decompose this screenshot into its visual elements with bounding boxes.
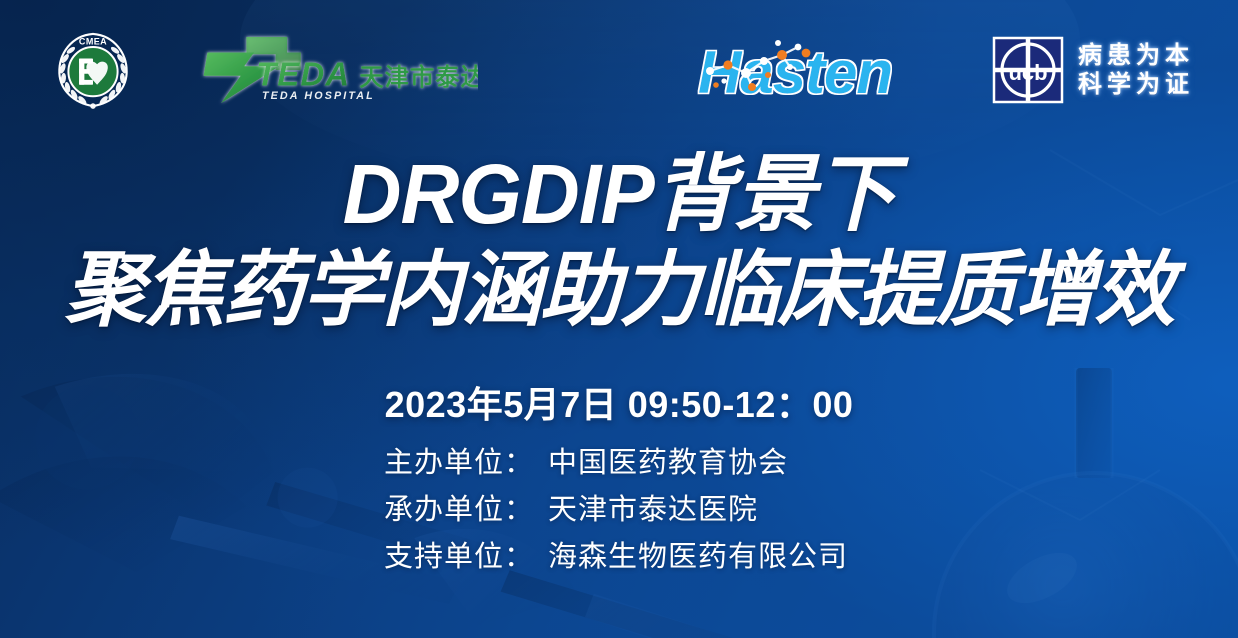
teda-latin-wordmark: TEDA	[256, 57, 350, 94]
event-date-time: 2023年5月7日 09:50-12：00	[0, 376, 1238, 428]
cmea-acronym-text: CMEA	[79, 37, 107, 47]
hasten-wordmark-icon: Hasten	[694, 31, 944, 109]
headline-line-2: 聚焦药学内涵助力临床提质增效	[6, 250, 1232, 332]
organiser-row: 支持单位： 海森生物医药有限公司	[384, 534, 854, 581]
organiser-row: 主办单位： 中国医药教育协会	[384, 440, 854, 487]
cmea-logo: CMEA	[52, 29, 134, 111]
teda-chinese-name: 天津市泰达医院	[359, 64, 478, 92]
conference-poster: CMEA	[0, 0, 1238, 638]
ucb-slogan-line-1: 病患为本	[1078, 43, 1194, 68]
organiser-value: 海森生物医药有限公司	[548, 534, 854, 581]
cmea-emblem-icon: CMEA	[52, 29, 134, 111]
organiser-block: 主办单位： 中国医药教育协会 承办单位： 天津市泰达医院 支持单位： 海森生物医…	[0, 440, 1238, 581]
ucb-slogan-line-2: 科学为证	[1078, 72, 1194, 97]
hasten-logo: Hasten	[694, 31, 944, 109]
organiser-label: 主办单位：	[384, 440, 534, 487]
teda-hospital-emblem-icon: TEDA TEDA HOSPITAL 天津市泰达医院	[186, 33, 478, 107]
teda-hospital-logo: TEDA TEDA HOSPITAL 天津市泰达医院	[186, 33, 478, 107]
headline-line-1: DRGDIP背景下	[19, 152, 1220, 236]
ucb-wordmark-text: ucb	[1008, 60, 1047, 85]
ucb-emblem-icon: ucb	[992, 36, 1064, 104]
teda-hospital-subtitle: TEDA HOSPITAL	[262, 90, 375, 102]
organiser-value: 中国医药教育协会	[548, 440, 854, 487]
organiser-label: 支持单位：	[384, 534, 534, 581]
sponsor-logo-bar: CMEA	[0, 0, 1238, 140]
organiser-label: 承办单位：	[384, 487, 534, 534]
ucb-slogan: 病患为本 科学为证	[1078, 43, 1194, 97]
poster-headline: DRGDIP背景下 聚焦药学内涵助力临床提质增效	[0, 152, 1238, 332]
organiser-row: 承办单位： 天津市泰达医院	[384, 487, 854, 534]
ucb-logo: ucb 病患为本 科学为证	[992, 36, 1194, 104]
organiser-value: 天津市泰达医院	[548, 487, 854, 534]
